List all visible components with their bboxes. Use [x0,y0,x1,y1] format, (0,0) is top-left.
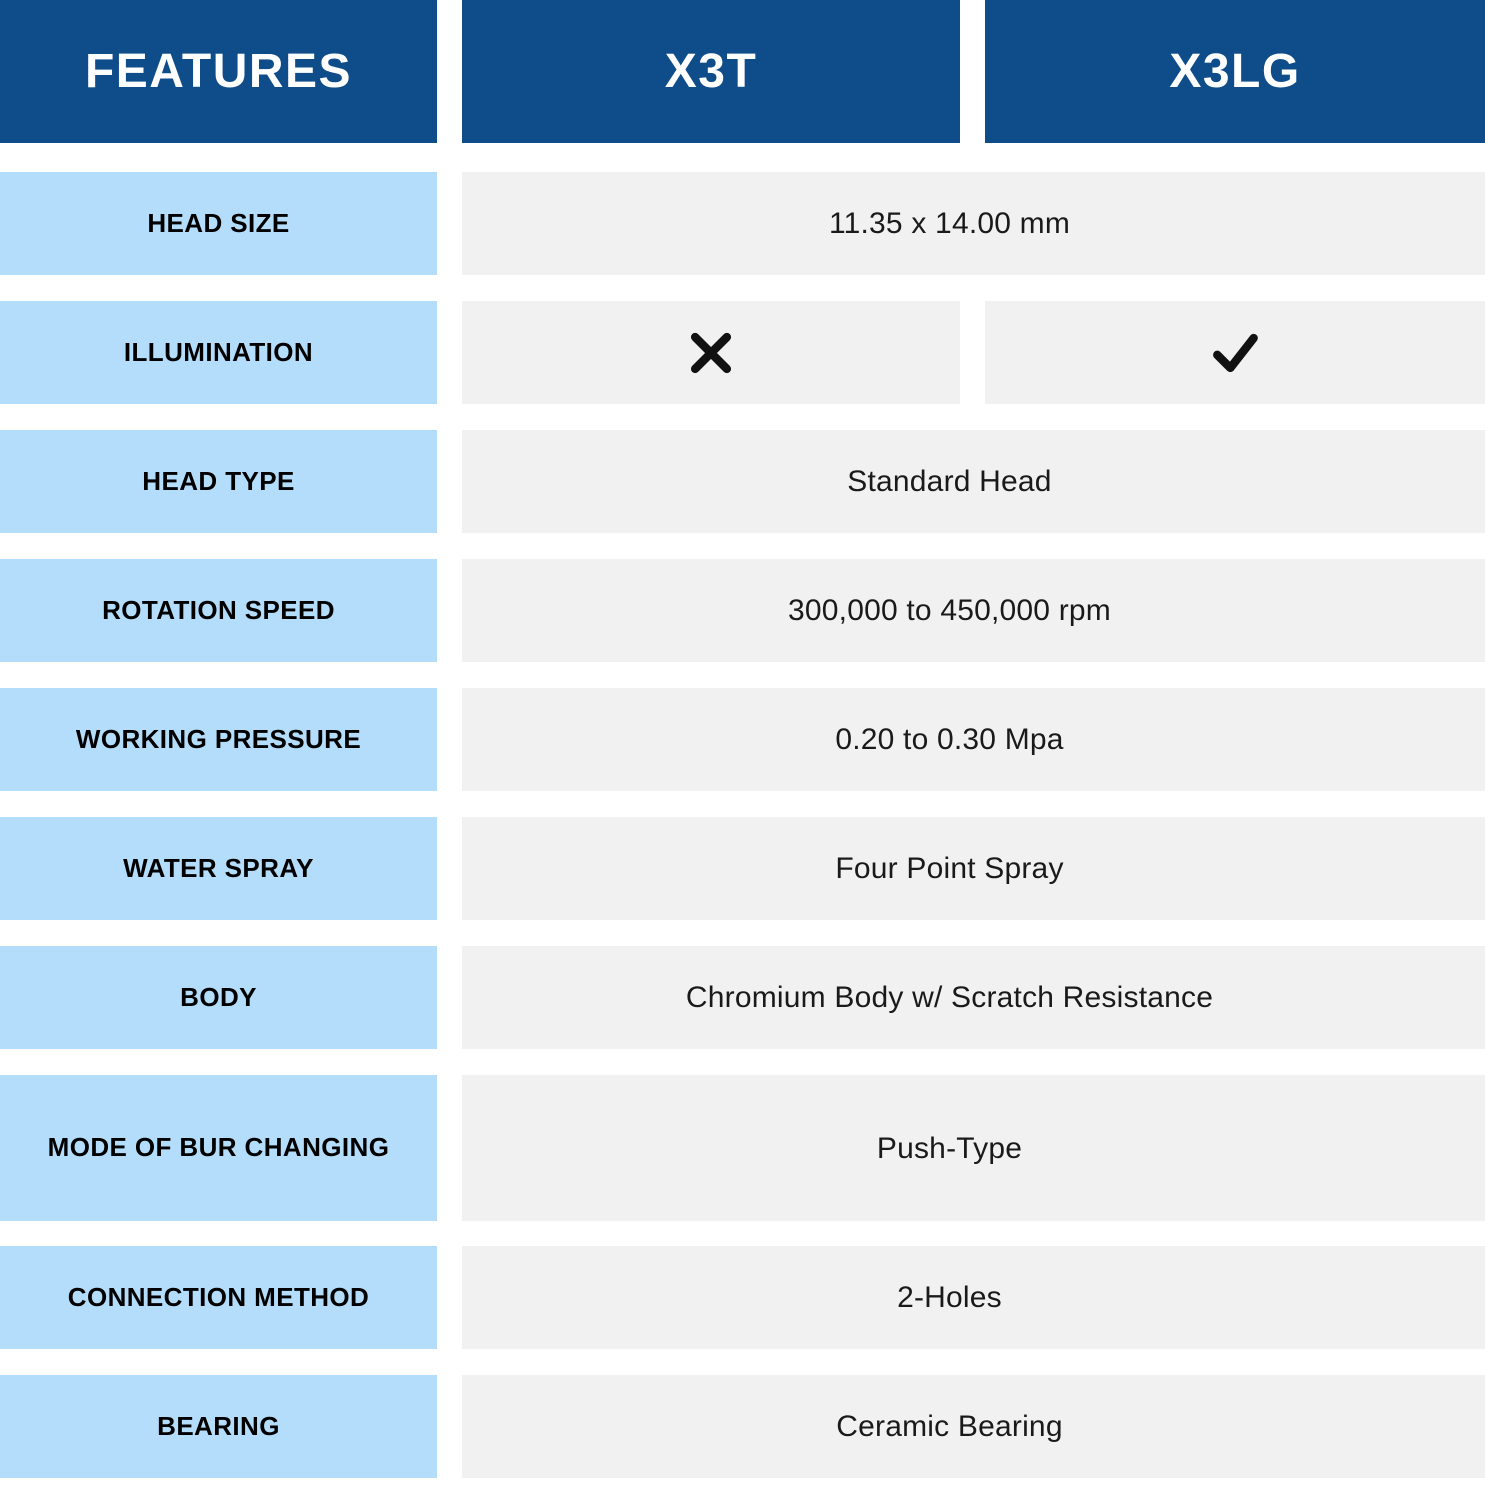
table-header: FEATURES X3T X3LG [0,0,1485,143]
value-text: 2-Holes [897,1278,1002,1317]
value-cell-shared: 11.35 x 14.00 mm [462,172,1485,275]
value-text: 300,000 to 450,000 rpm [788,591,1111,630]
feature-label-cell: CONNECTION METHOD [0,1246,437,1349]
value-text: Push-Type [877,1129,1022,1168]
feature-label-cell: WORKING PRESSURE [0,688,437,791]
value-cell-shared: Standard Head [462,430,1485,533]
comparison-table: FEATURES X3T X3LG HEAD SIZE11.35 x 14.00… [0,0,1485,1485]
feature-label-cell: BODY [0,946,437,1049]
value-cell-shared: 0.20 to 0.30 Mpa [462,688,1485,791]
feature-label-cell: ROTATION SPEED [0,559,437,662]
feature-label-cell: ILLUMINATION [0,301,437,404]
value-cell-shared: 300,000 to 450,000 rpm [462,559,1485,662]
header-features-label: FEATURES [85,48,352,96]
feature-label-cell: HEAD SIZE [0,172,437,275]
value-cell-shared: Chromium Body w/ Scratch Resistance [462,946,1485,1049]
table-row: HEAD TYPEStandard Head [0,430,1485,533]
feature-label-cell: HEAD TYPE [0,430,437,533]
feature-label-cell: BEARING [0,1375,437,1478]
value-cell-shared: Four Point Spray [462,817,1485,920]
header-product-a-label: X3T [665,48,758,96]
value-text: 0.20 to 0.30 Mpa [835,720,1063,759]
value-cell-shared: 2-Holes [462,1246,1485,1349]
feature-label-text: HEAD TYPE [142,464,294,499]
feature-label-text: BODY [180,980,257,1015]
table-row: BODYChromium Body w/ Scratch Resistance [0,946,1485,1049]
feature-label-text: CONNECTION METHOD [68,1280,369,1315]
feature-label-text: WATER SPRAY [123,851,314,886]
value-text: Chromium Body w/ Scratch Resistance [686,978,1213,1017]
table-row: CONNECTION METHOD2-Holes [0,1246,1485,1349]
header-cell-product-b: X3LG [985,0,1485,143]
header-product-b-label: X3LG [1169,48,1300,96]
value-cell-shared: Push-Type [462,1075,1485,1221]
table-row: MODE OF BUR CHANGINGPush-Type [0,1075,1485,1221]
feature-label-text: BEARING [157,1409,280,1444]
feature-label-text: WORKING PRESSURE [76,722,361,757]
feature-label-text: ROTATION SPEED [102,593,335,628]
check-icon [1207,325,1263,381]
feature-label-cell: MODE OF BUR CHANGING [0,1075,437,1221]
header-cell-features: FEATURES [0,0,437,143]
value-text: 11.35 x 14.00 mm [829,204,1070,243]
feature-label-text: ILLUMINATION [124,335,313,370]
feature-label-cell: WATER SPRAY [0,817,437,920]
feature-label-text: MODE OF BUR CHANGING [48,1130,390,1165]
table-row: BEARINGCeramic Bearing [0,1375,1485,1478]
table-row: ILLUMINATION [0,301,1485,404]
value-text: Standard Head [847,462,1051,501]
value-text: Ceramic Bearing [836,1407,1062,1446]
table-row: WORKING PRESSURE0.20 to 0.30 Mpa [0,688,1485,791]
value-cell-product-b [985,301,1485,404]
table-row: ROTATION SPEED300,000 to 450,000 rpm [0,559,1485,662]
table-row: WATER SPRAYFour Point Spray [0,817,1485,920]
value-cell-product-a [462,301,960,404]
value-text: Four Point Spray [835,849,1063,888]
table-row: HEAD SIZE11.35 x 14.00 mm [0,172,1485,275]
feature-label-text: HEAD SIZE [147,206,289,241]
header-cell-product-a: X3T [462,0,960,143]
cross-icon [683,325,739,381]
value-cell-shared: Ceramic Bearing [462,1375,1485,1478]
